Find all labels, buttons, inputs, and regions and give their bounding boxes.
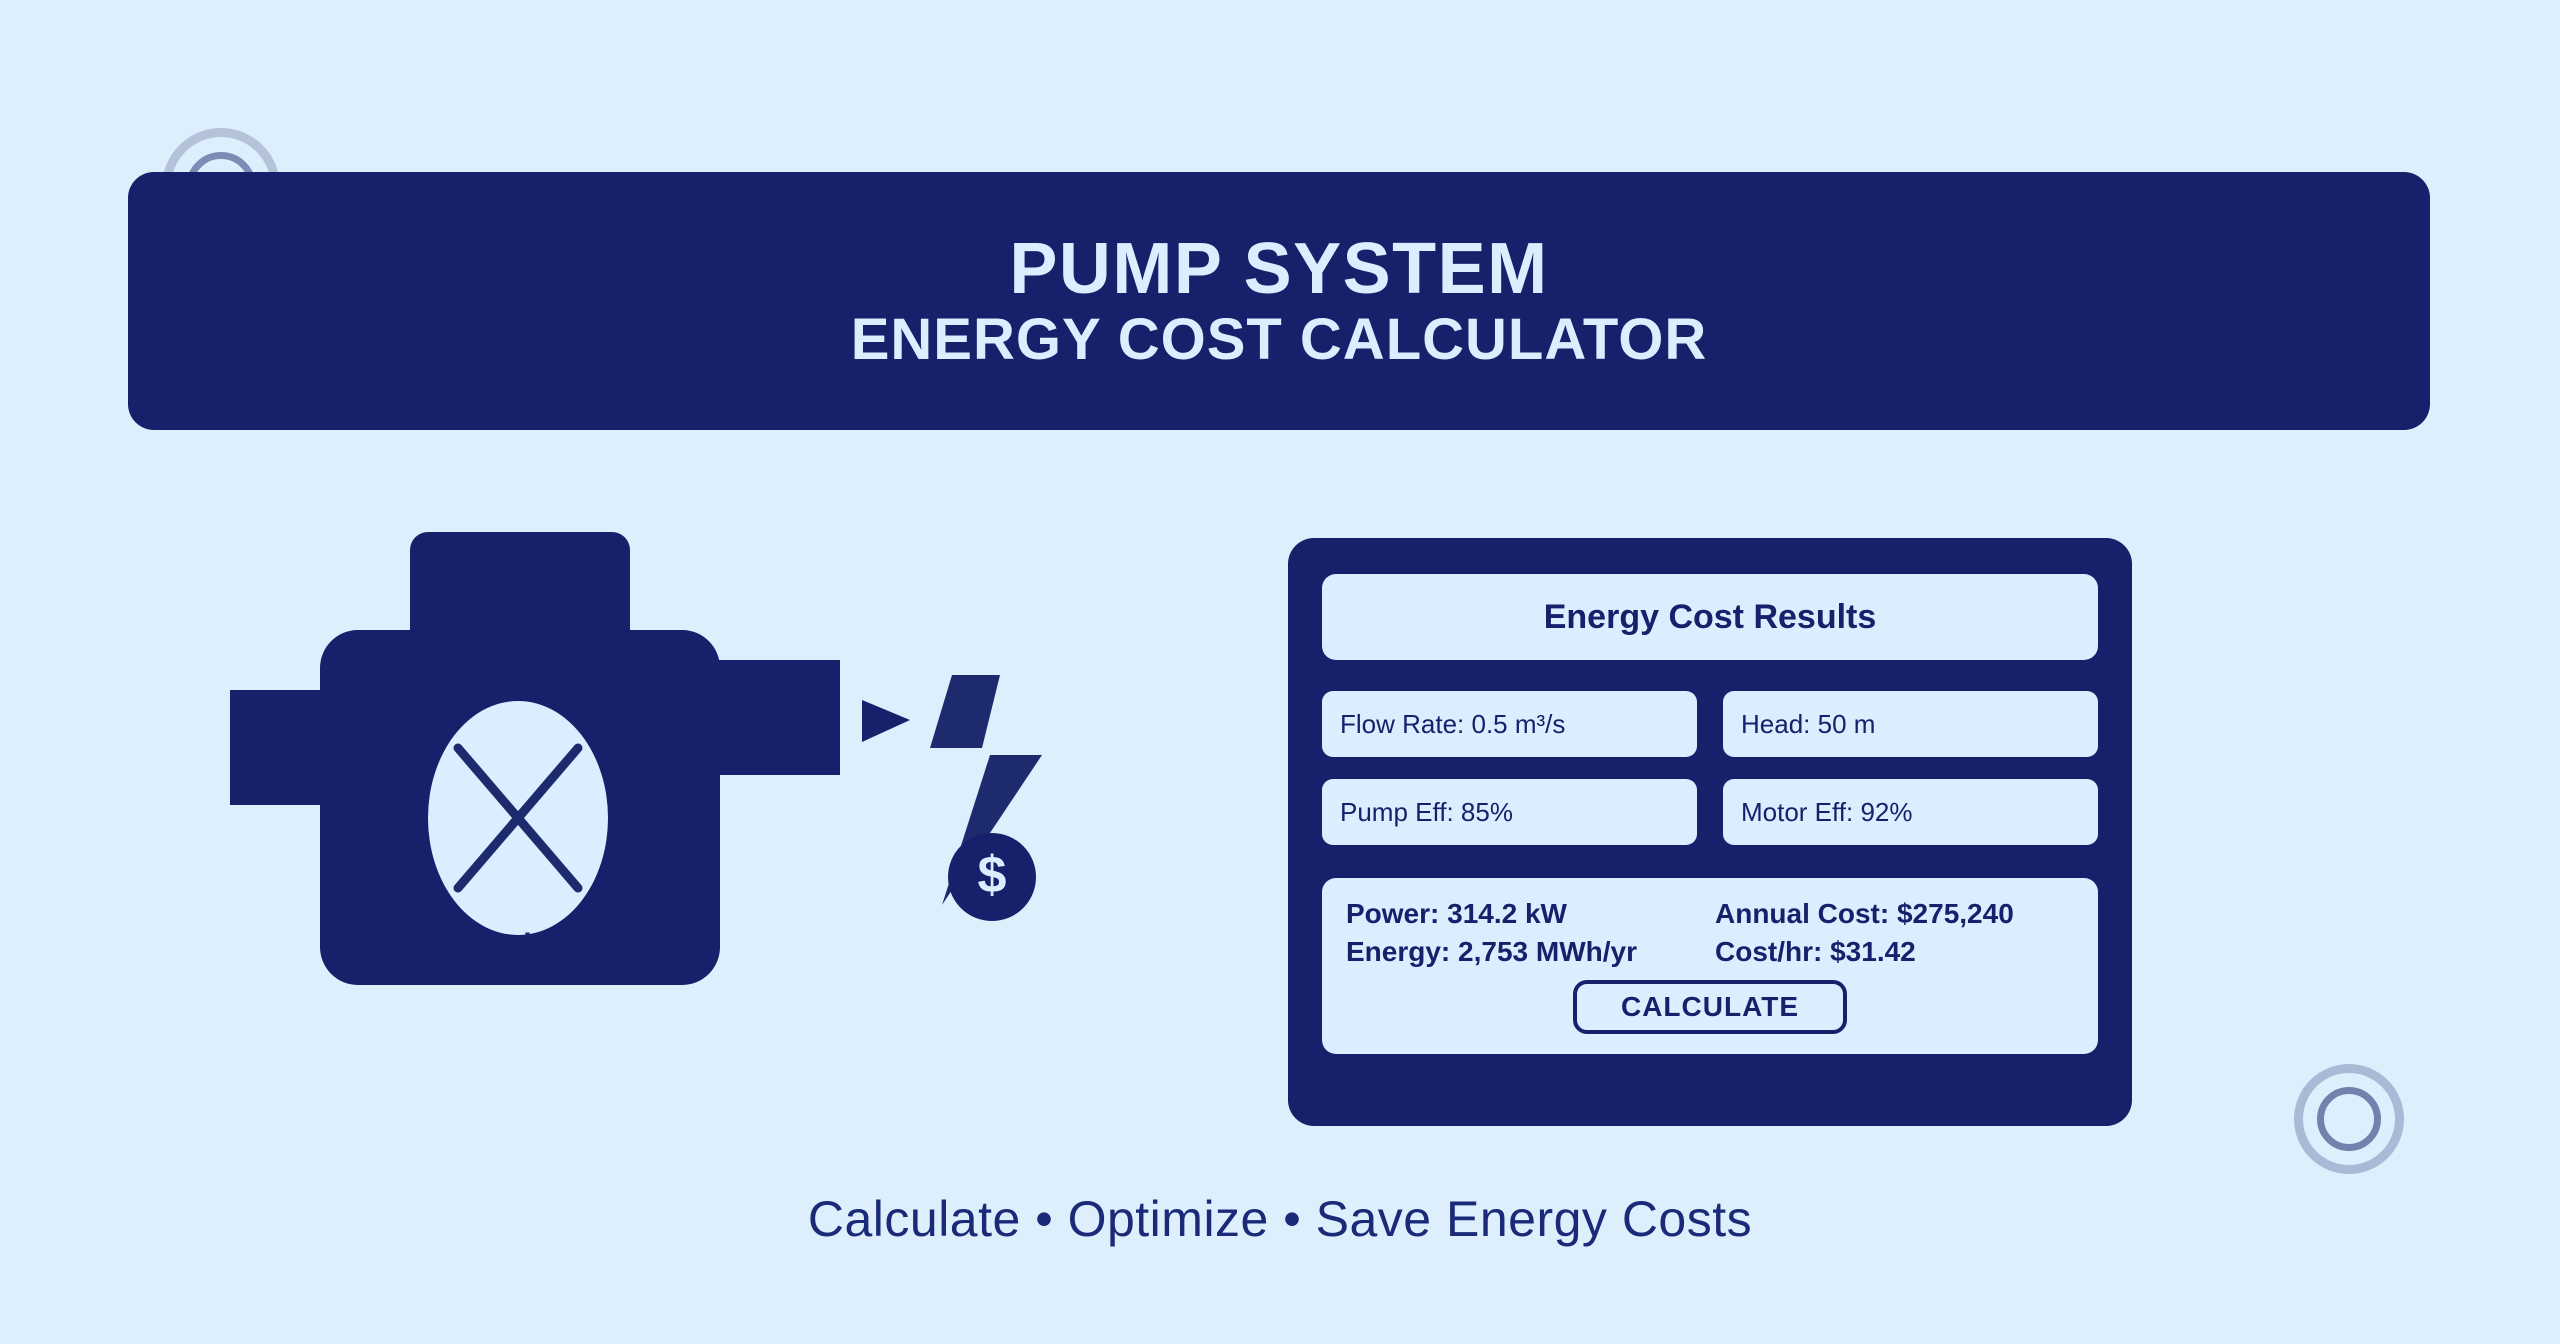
- summary-power: Power: 314.2 kW: [1346, 898, 1705, 930]
- summary-annual-cost: Annual Cost: $275,240: [1715, 898, 2074, 930]
- poster-canvas: PUMP SYSTEM ENERGY COST CALCULATOR: [0, 0, 2560, 1344]
- lightning-bolt-icon: [930, 675, 1000, 748]
- tagline: Calculate • Optimize • Save Energy Costs: [0, 1190, 2560, 1248]
- parameter-label: Flow Rate: 0.5 m³/s: [1340, 709, 1565, 740]
- pump-caption: Centrifugal Pump: [230, 928, 910, 962]
- parameter-field-motor-eff[interactable]: Motor Eff: 92%: [1723, 779, 2098, 845]
- parameter-field-flow-rate[interactable]: Flow Rate: 0.5 m³/s: [1322, 691, 1697, 757]
- results-title-box: Energy Cost Results: [1322, 574, 2098, 660]
- dollar-coin-symbol: $: [978, 846, 1007, 904]
- parameter-label: Head: 50 m: [1741, 709, 1875, 740]
- summary-cost-per-hour: Cost/hr: $31.42: [1715, 936, 2074, 968]
- calculate-button[interactable]: CALCULATE: [1573, 980, 1847, 1034]
- page-subtitle: ENERGY COST CALCULATOR: [851, 311, 1708, 369]
- parameter-label: Motor Eff: 92%: [1741, 797, 1913, 828]
- outlet-pipe-icon: [710, 660, 840, 775]
- results-title: Energy Cost Results: [1544, 598, 1877, 637]
- summary-energy: Energy: 2,753 MWh/yr: [1346, 936, 1705, 968]
- results-panel: Energy Cost Results Flow Rate: 0.5 m³/s …: [1288, 538, 2132, 1126]
- parameter-label: Pump Eff: 85%: [1340, 797, 1513, 828]
- flow-arrow-icon: [862, 700, 910, 742]
- calculate-row: CALCULATE: [1346, 980, 2074, 1034]
- parameter-field-head[interactable]: Head: 50 m: [1723, 691, 2098, 757]
- page-title: PUMP SYSTEM: [1009, 233, 1548, 305]
- decorative-ring-bottom-right-inner: [2317, 1087, 2381, 1151]
- parameter-grid: Flow Rate: 0.5 m³/s Head: 50 m Pump Eff:…: [1322, 691, 2098, 845]
- results-summary-box: Power: 314.2 kW Annual Cost: $275,240 En…: [1322, 878, 2098, 1054]
- results-summary-grid: Power: 314.2 kW Annual Cost: $275,240 En…: [1346, 898, 2074, 968]
- header-banner: PUMP SYSTEM ENERGY COST CALCULATOR: [128, 172, 2430, 430]
- parameter-field-pump-eff[interactable]: Pump Eff: 85%: [1322, 779, 1697, 845]
